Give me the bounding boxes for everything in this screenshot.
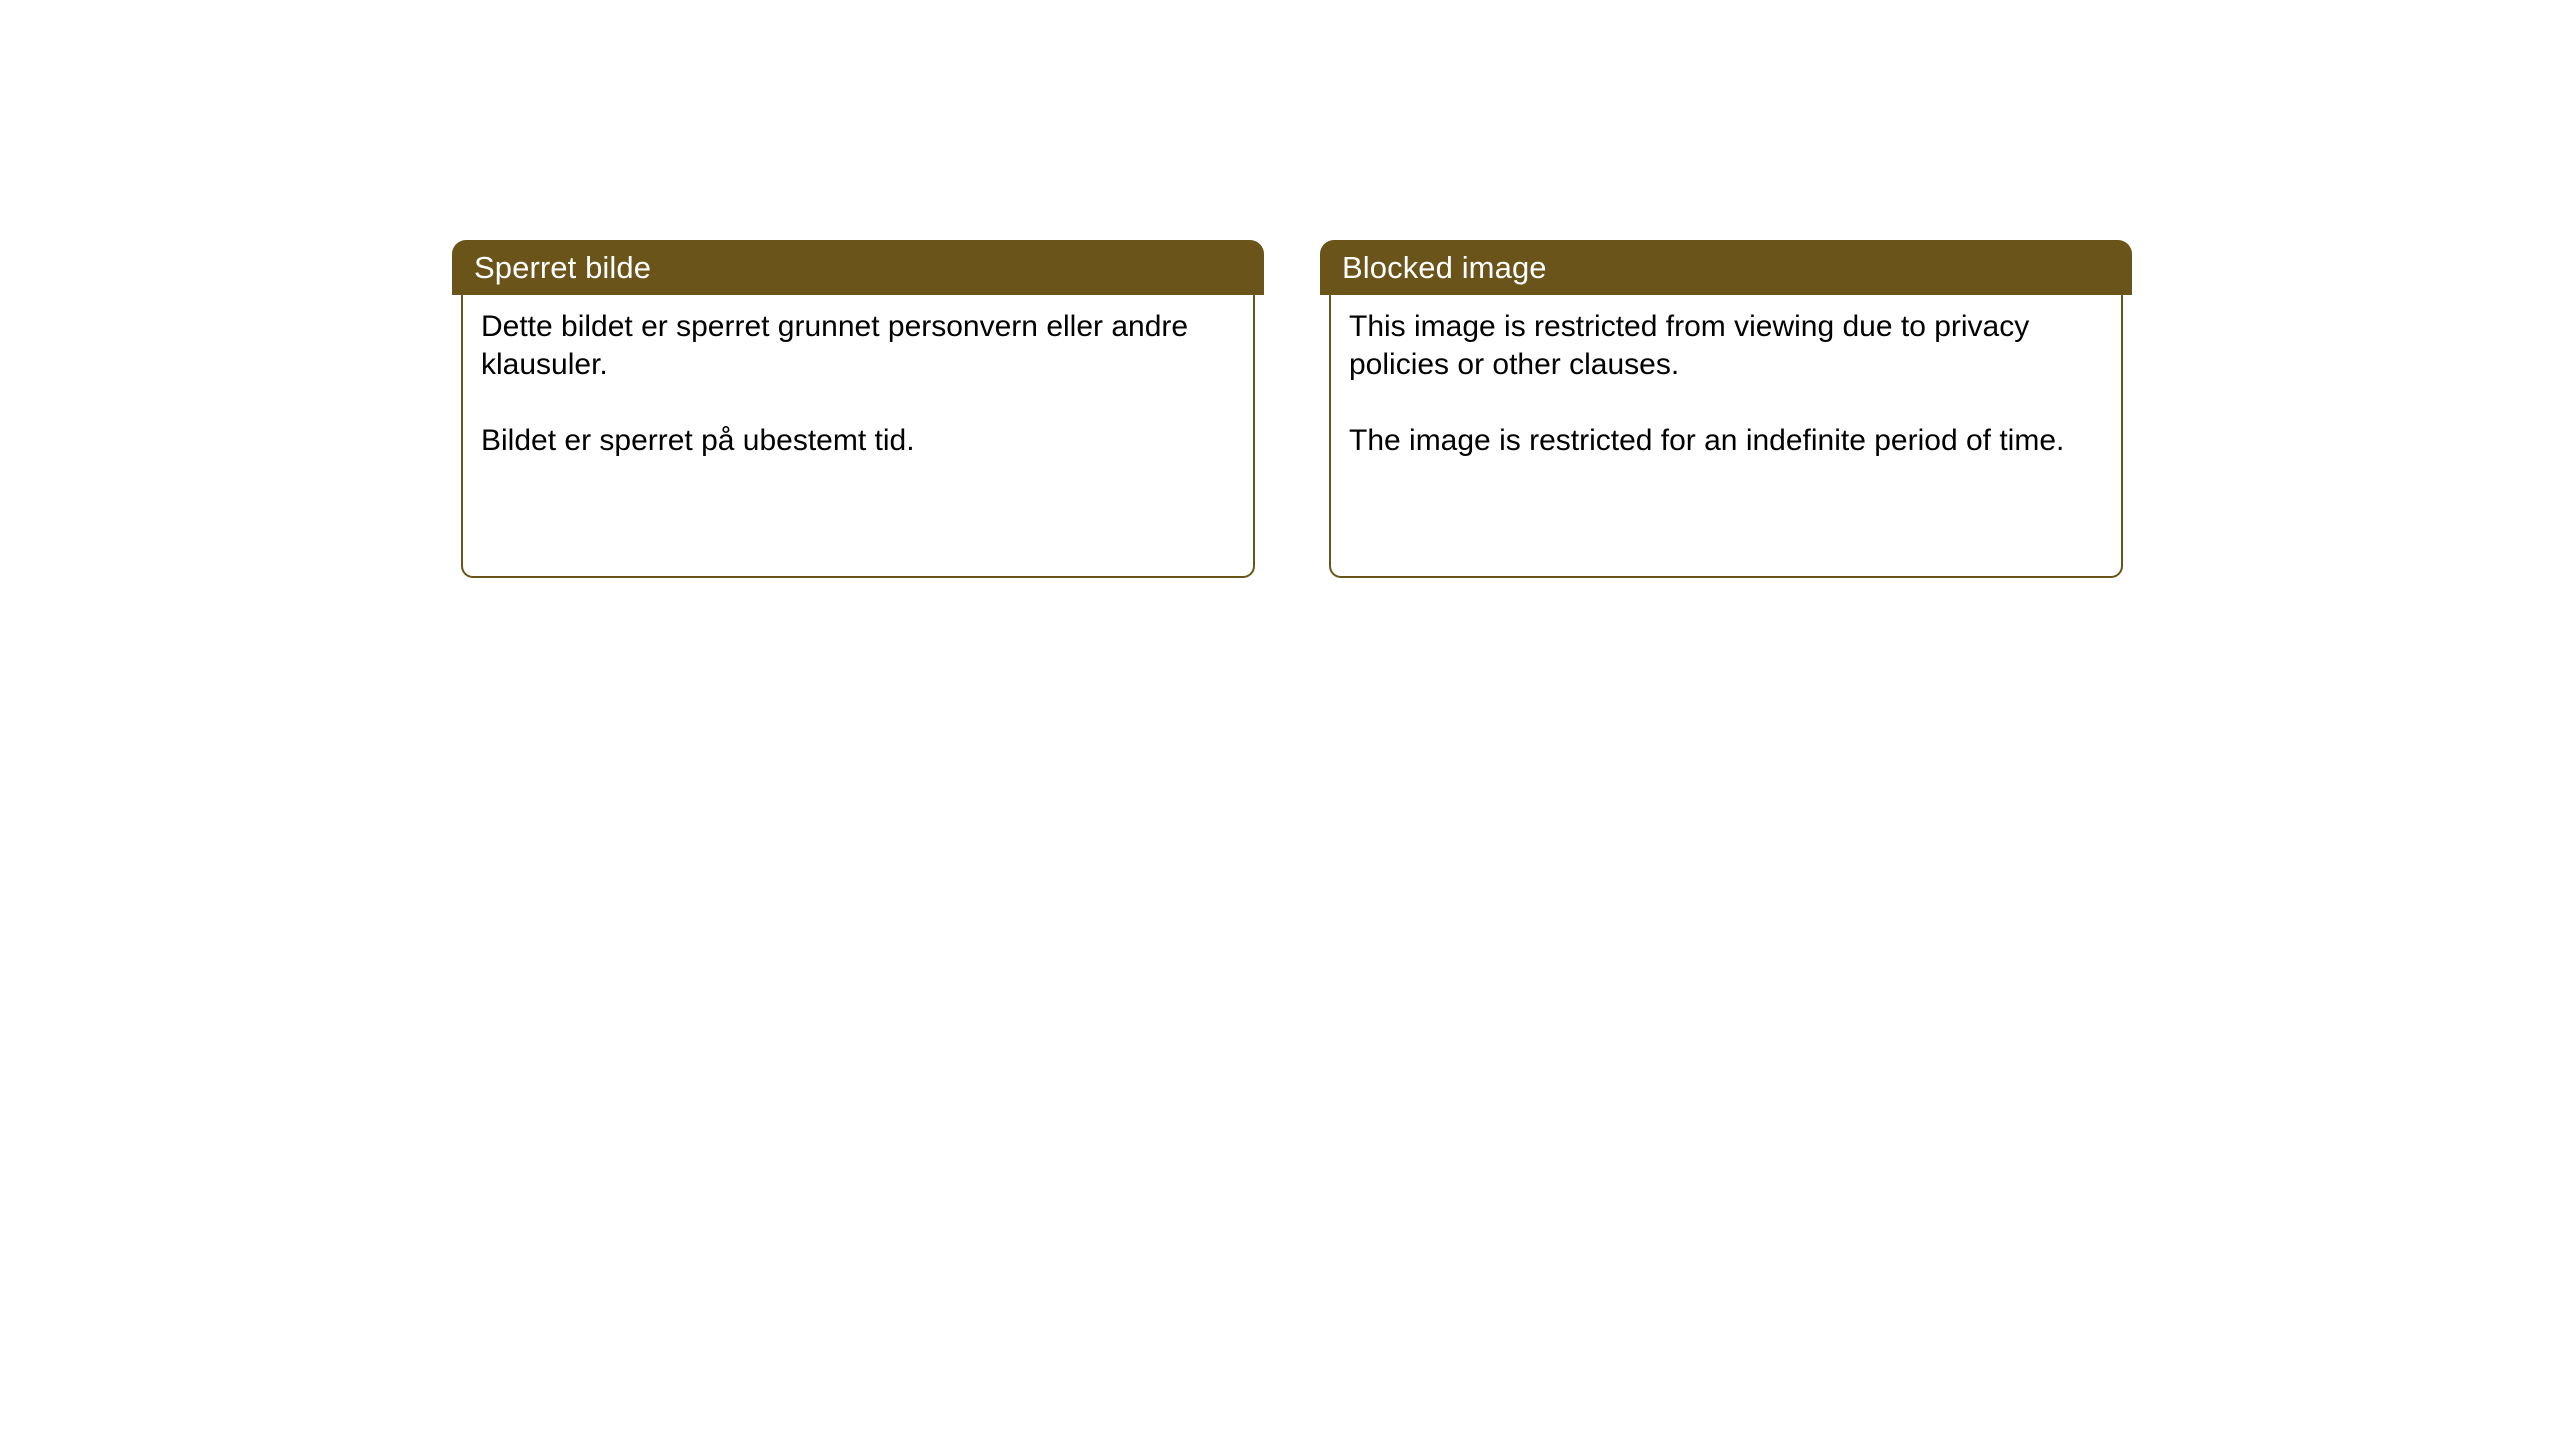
notice-paragraph-2-no: Bildet er sperret på ubestemt tid. (481, 422, 1241, 460)
notice-card-title-en: Blocked image (1320, 252, 1547, 283)
notice-card-text-no: Dette bildet er sperret grunnet personve… (481, 308, 1241, 460)
blocked-image-notice-card-en: Blocked image This image is restricted f… (1320, 240, 2132, 578)
notice-card-text-en: This image is restricted from viewing du… (1349, 308, 2109, 460)
notice-paragraph-1-en: This image is restricted from viewing du… (1349, 308, 2109, 384)
notice-paragraph-1-no: Dette bildet er sperret grunnet personve… (481, 308, 1241, 384)
notice-card-header-no: Sperret bilde (452, 240, 1264, 295)
notice-card-title-no: Sperret bilde (452, 252, 651, 283)
notice-card-body-en: This image is restricted from viewing du… (1329, 287, 2123, 578)
notice-paragraph-2-en: The image is restricted for an indefinit… (1349, 422, 2109, 460)
notice-card-body-no: Dette bildet er sperret grunnet personve… (461, 287, 1255, 578)
page-canvas: Sperret bilde Dette bildet er sperret gr… (0, 0, 2560, 1440)
blocked-image-notice-card-no: Sperret bilde Dette bildet er sperret gr… (452, 240, 1264, 578)
notice-card-header-en: Blocked image (1320, 240, 2132, 295)
